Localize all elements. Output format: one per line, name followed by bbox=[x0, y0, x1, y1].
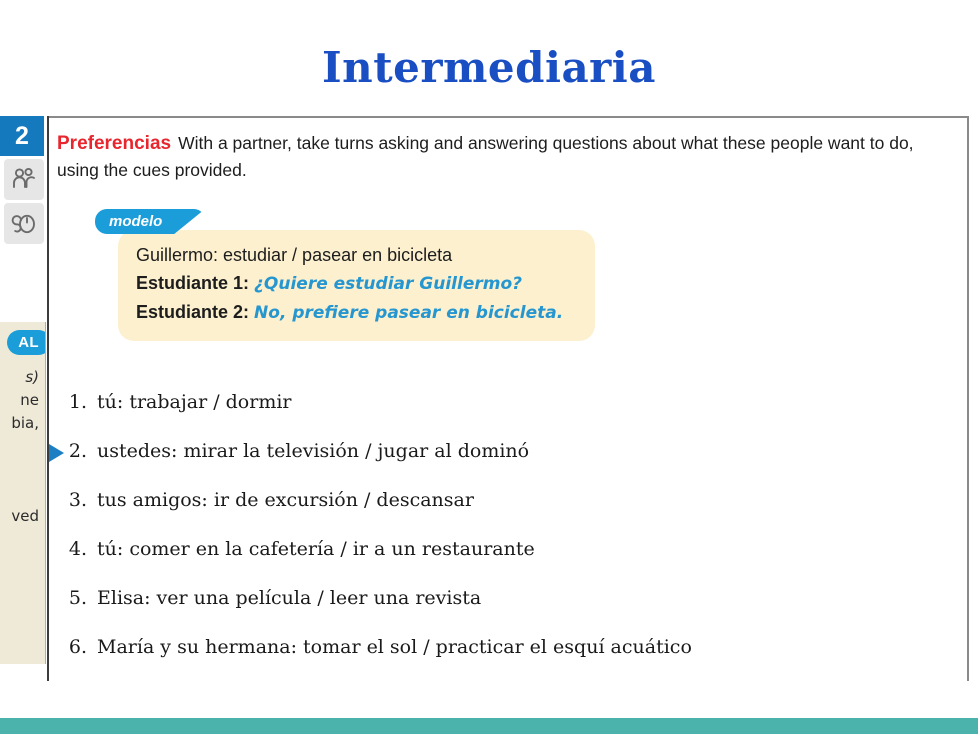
modelo-dialogue-line: Estudiante 1: ¿Quiere estudiar Guillermo… bbox=[136, 269, 577, 298]
cue-number: 3. bbox=[55, 476, 97, 525]
cue-text: tú: trabajar / dormir bbox=[97, 391, 292, 413]
current-item-pointer-icon bbox=[49, 444, 64, 462]
modelo-dialogue-line: Estudiante 2: No, prefiere pasear en bic… bbox=[136, 298, 577, 327]
cue-text: Elisa: ver una película / leer una revis… bbox=[97, 587, 481, 609]
modelo-prompt-line: Guillermo: estudiar / pasear en biciclet… bbox=[136, 241, 577, 269]
modelo-speaker-label: Estudiante 2: bbox=[136, 302, 249, 322]
cue-text: tú: comer en la cafetería / ir a un rest… bbox=[97, 538, 535, 560]
bottom-accent-bar bbox=[0, 718, 978, 734]
page-title: Intermediaria bbox=[0, 44, 978, 92]
page-border-left bbox=[47, 116, 49, 681]
cue-list-item[interactable]: 3.tus amigos: ir de excursión / descansa… bbox=[55, 476, 945, 525]
modelo-block: modelo Guillermo: estudiar / pasear en b… bbox=[95, 209, 595, 341]
modelo-prompt-text: Guillermo: estudiar / pasear en biciclet… bbox=[136, 245, 452, 265]
cue-text: María y su hermana: tomar el sol / pract… bbox=[97, 636, 692, 658]
side-note-text-fragment: s) bbox=[25, 368, 39, 386]
modelo-answer-text: ¿Quiere estudiar Guillermo? bbox=[254, 274, 522, 294]
activity-number-badge: 2 bbox=[0, 116, 44, 156]
page-border-right bbox=[967, 116, 969, 681]
side-note-box: AL s) ne bia, ved bbox=[0, 322, 46, 664]
cue-list-item[interactable]: 5.Elisa: ver una película / leer una rev… bbox=[55, 574, 945, 623]
activity-instruction-text: With a partner, take turns asking and an… bbox=[57, 133, 914, 180]
modelo-box: Guillermo: estudiar / pasear en biciclet… bbox=[118, 230, 595, 341]
activity-instructions: PreferenciasWith a partner, take turns a… bbox=[57, 130, 937, 184]
pair-work-icon[interactable] bbox=[4, 159, 44, 200]
activity-title: Preferencias bbox=[57, 133, 171, 154]
cue-list-item[interactable]: 2.ustedes: mirar la televisión / jugar a… bbox=[55, 427, 945, 476]
cue-text: tus amigos: ir de excursión / descansar bbox=[97, 489, 474, 511]
cue-text: ustedes: mirar la televisión / jugar al … bbox=[97, 440, 529, 462]
side-note-pill-label: AL bbox=[7, 330, 46, 355]
modelo-speaker-label: Estudiante 1: bbox=[136, 273, 249, 293]
modelo-answer-text: No, prefiere pasear en bicicleta. bbox=[254, 303, 563, 323]
activity-body: PreferenciasWith a partner, take turns a… bbox=[55, 116, 960, 681]
cue-list-item[interactable]: 1.tú: trabajar / dormir bbox=[55, 378, 945, 427]
cue-number: 6. bbox=[55, 623, 97, 672]
side-note-text-fragment: bia, bbox=[11, 414, 39, 432]
cue-number: 5. bbox=[55, 574, 97, 623]
cue-number: 1. bbox=[55, 378, 97, 427]
side-note-text-fragment: ved bbox=[11, 507, 39, 525]
cue-number: 4. bbox=[55, 525, 97, 574]
cue-list-item[interactable]: 6.María y su hermana: tomar el sol / pra… bbox=[55, 623, 945, 672]
digital-mouse-icon[interactable] bbox=[4, 203, 44, 244]
textbook-activity-page: 2 AL s) ne bia, ved PreferenciasWit bbox=[0, 116, 969, 681]
cue-list-item[interactable]: 4.tú: comer en la cafetería / ir a un re… bbox=[55, 525, 945, 574]
cue-list: 1.tú: trabajar / dormir 2.ustedes: mirar… bbox=[55, 378, 945, 672]
side-note-text-fragment: ne bbox=[20, 391, 39, 409]
